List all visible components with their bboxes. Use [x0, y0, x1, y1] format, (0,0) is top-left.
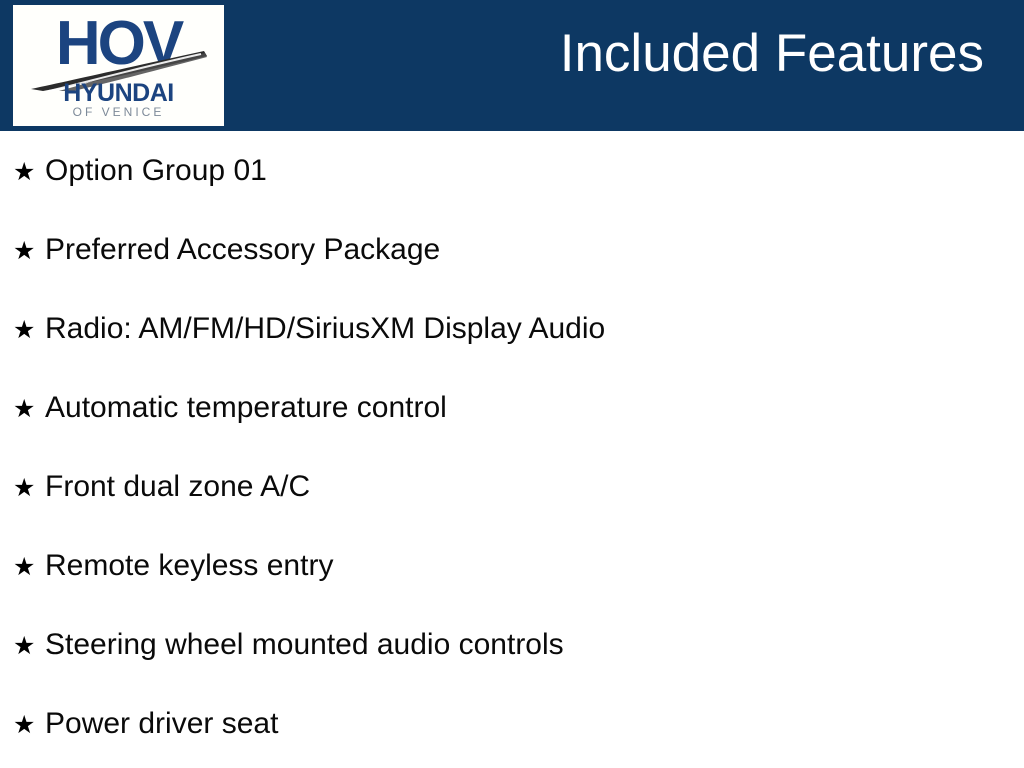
feature-item: ★Power driver seat: [13, 709, 278, 739]
logo-brand-text: HYUNDAI: [13, 81, 224, 106]
feature-item: ★Preferred Accessory Package: [13, 235, 440, 265]
feature-item-label: Steering wheel mounted audio controls: [45, 630, 564, 660]
star-bullet-icon: ★: [13, 397, 45, 422]
feature-item: ★Front dual zone A/C: [13, 472, 310, 502]
feature-item-label: Preferred Accessory Package: [45, 235, 440, 265]
slide-header: HOV HYUNDAI OF VENICE Included Features: [0, 0, 1024, 131]
logo-location-text: OF VENICE: [13, 106, 224, 118]
star-bullet-icon: ★: [13, 160, 45, 185]
star-bullet-icon: ★: [13, 713, 45, 738]
feature-item: ★Option Group 01: [13, 156, 267, 186]
feature-item-label: Front dual zone A/C: [45, 472, 310, 502]
dealer-logo: HOV HYUNDAI OF VENICE: [13, 5, 224, 126]
star-bullet-icon: ★: [13, 318, 45, 343]
logo-hov-wordmark: HOV: [13, 13, 224, 75]
feature-item-label: Power driver seat: [45, 709, 278, 739]
feature-item-label: Remote keyless entry: [45, 551, 333, 581]
feature-item-label: Radio: AM/FM/HD/SiriusXM Display Audio: [45, 314, 605, 344]
star-bullet-icon: ★: [13, 555, 45, 580]
star-bullet-icon: ★: [13, 634, 45, 659]
feature-item: ★Steering wheel mounted audio controls: [13, 630, 564, 660]
logo-inner: HOV HYUNDAI OF VENICE: [13, 5, 224, 126]
star-bullet-icon: ★: [13, 239, 45, 264]
feature-item-label: Automatic temperature control: [45, 393, 447, 423]
page-title: Included Features: [560, 26, 984, 82]
feature-item: ★Radio: AM/FM/HD/SiriusXM Display Audio: [13, 314, 605, 344]
star-bullet-icon: ★: [13, 476, 45, 501]
feature-item: ★Remote keyless entry: [13, 551, 333, 581]
included-features-list: ★Option Group 01★Preferred Accessory Pac…: [0, 131, 1024, 768]
slide: HOV HYUNDAI OF VENICE Included Features …: [0, 0, 1024, 768]
feature-item: ★Automatic temperature control: [13, 393, 447, 423]
feature-item-label: Option Group 01: [45, 156, 267, 186]
